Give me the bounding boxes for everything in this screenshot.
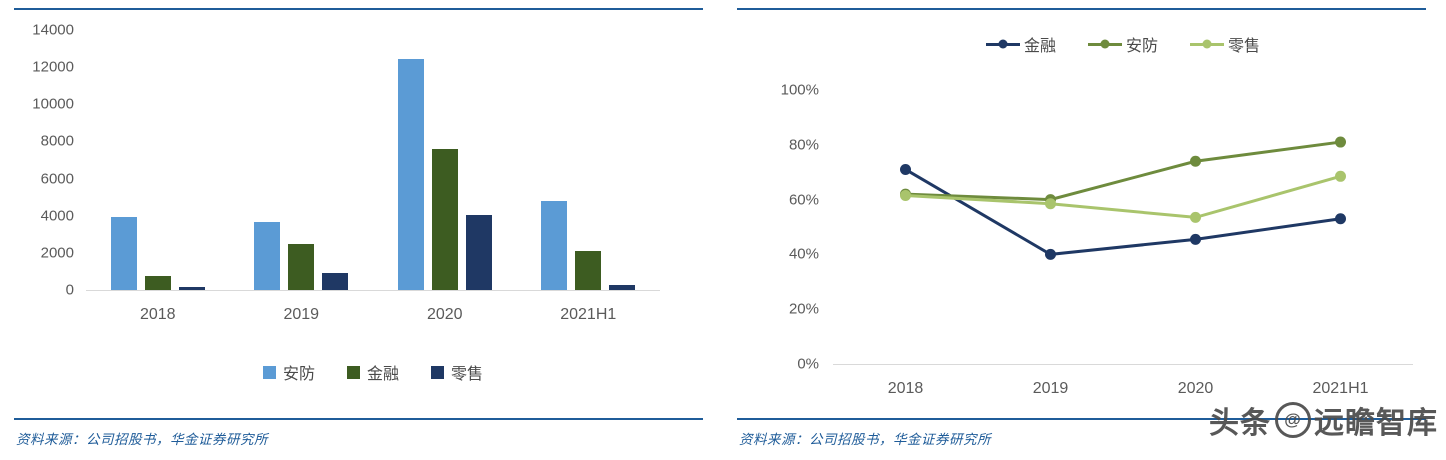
bar-y-tick: 12000 [32,59,74,76]
legend-swatch [263,366,276,379]
watermark-brand-text: 远瞻智库 [1314,398,1438,442]
legend-swatch [431,366,444,379]
bar [466,215,492,290]
left-chart-panel: 02000400060008000100001200014000 2018201… [0,0,723,460]
bar [575,251,601,290]
bottom-divider [14,418,703,420]
bar-x-tick: 2021H1 [560,306,616,324]
page-root: 02000400060008000100001200014000 2018201… [0,0,1446,460]
bar [145,276,171,290]
line-data-point [1045,198,1056,209]
line-x-tick: 2020 [1178,380,1214,398]
bar [111,217,137,290]
line-data-point [1045,249,1056,260]
bar [288,244,314,290]
bar-y-tick: 0 [66,282,74,299]
bar-chart-legend: 安防金融零售 [86,360,660,384]
bar-x-tick: 2019 [283,306,319,324]
right-source-note: 资料来源：公司招股书，华金证券研究所 [739,428,991,448]
line-x-tick: 2018 [888,380,924,398]
legend-label: 安防 [283,360,315,384]
watermark-head-text: 头条 [1209,398,1271,442]
bar-y-tick: 2000 [41,244,74,261]
bar-x-axis-line [86,290,660,291]
line-data-point [900,190,911,201]
bar-y-tick: 8000 [41,133,74,150]
line-chart: 金融安防零售 0%20%40%60%80%100% 20182019202020… [723,10,1446,410]
bar-y-tick: 6000 [41,170,74,187]
legend-label: 金融 [367,360,399,384]
left-source-note: 资料来源：公司招股书，华金证券研究所 [16,428,268,448]
line-data-point [1335,213,1346,224]
line-data-point [1190,212,1201,223]
right-chart-panel: 金融安防零售 0%20%40%60%80%100% 20182019202020… [723,0,1446,460]
bar-y-tick: 4000 [41,207,74,224]
bar-y-tick: 14000 [32,22,74,39]
line-series-svg [723,10,1446,410]
line-data-point [1335,137,1346,148]
line-data-point [1335,171,1346,182]
bar-chart: 02000400060008000100001200014000 2018201… [0,14,723,374]
bar [432,149,458,290]
line-data-point [1190,156,1201,167]
bar-plot-area [86,30,660,290]
bar [254,222,280,290]
line-x-tick: 2021H1 [1312,380,1368,398]
bar [398,59,424,290]
line-data-point [1190,234,1201,245]
line-series [906,142,1341,200]
watermark-at-icon: @ [1275,402,1311,438]
bar [541,201,567,290]
legend-label: 零售 [451,360,483,384]
legend-item[interactable]: 安防 [263,360,315,384]
line-data-point [900,164,911,175]
bar-x-tick: 2018 [140,306,176,324]
top-divider [14,8,703,10]
legend-swatch [347,366,360,379]
bar [322,273,348,290]
legend-item[interactable]: 零售 [431,360,483,384]
bar-x-tick: 2020 [427,306,463,324]
line-x-tick: 2019 [1033,380,1069,398]
bar-y-tick: 10000 [32,96,74,113]
watermark: 头条 @ 远瞻智库 [1209,398,1438,442]
legend-item[interactable]: 金融 [347,360,399,384]
